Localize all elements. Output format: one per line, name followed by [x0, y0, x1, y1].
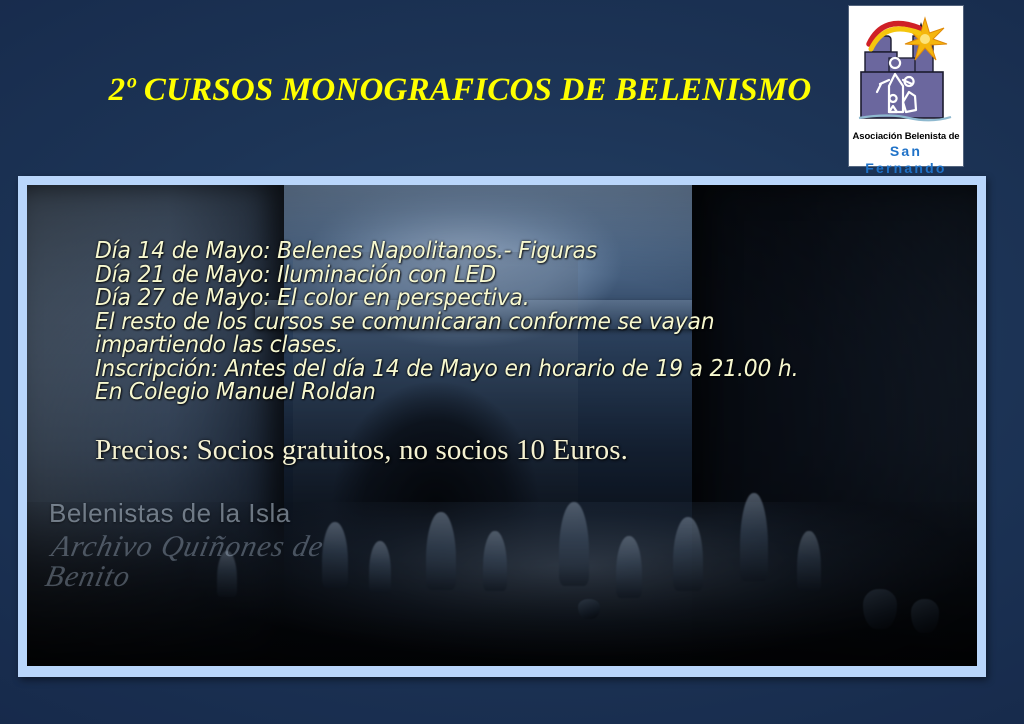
- logo-caption-line-2: San Fernando: [849, 143, 963, 177]
- logo-artwork: [849, 6, 963, 130]
- logo-caption-line-1: Asociación Belenista de: [849, 130, 963, 143]
- page-title: 2º CURSOS MONOGRAFICOS DE BELENISMO: [109, 74, 812, 107]
- nativity-photo: Belenistas de la Isla Archivo Quiñones d…: [27, 185, 977, 666]
- photo-frame: Belenistas de la Isla Archivo Quiñones d…: [18, 176, 986, 677]
- logo-caption: Asociación Belenista de San Fernando: [849, 130, 963, 166]
- presentation-slide: 2º CURSOS MONOGRAFICOS DE BELENISMO: [0, 0, 1024, 724]
- course-details-text-block: Día 14 de Mayo: Belenes Napolitanos.- Fi…: [27, 185, 977, 666]
- association-logo: Asociación Belenista de San Fernando: [849, 6, 963, 166]
- price-line: Precios: Socios gratuitos, no socios 10 …: [95, 436, 951, 465]
- venue-line: En Colegio Manuel Roldan: [95, 380, 891, 404]
- title-bar: 2º CURSOS MONOGRAFICOS DE BELENISMO: [60, 66, 860, 114]
